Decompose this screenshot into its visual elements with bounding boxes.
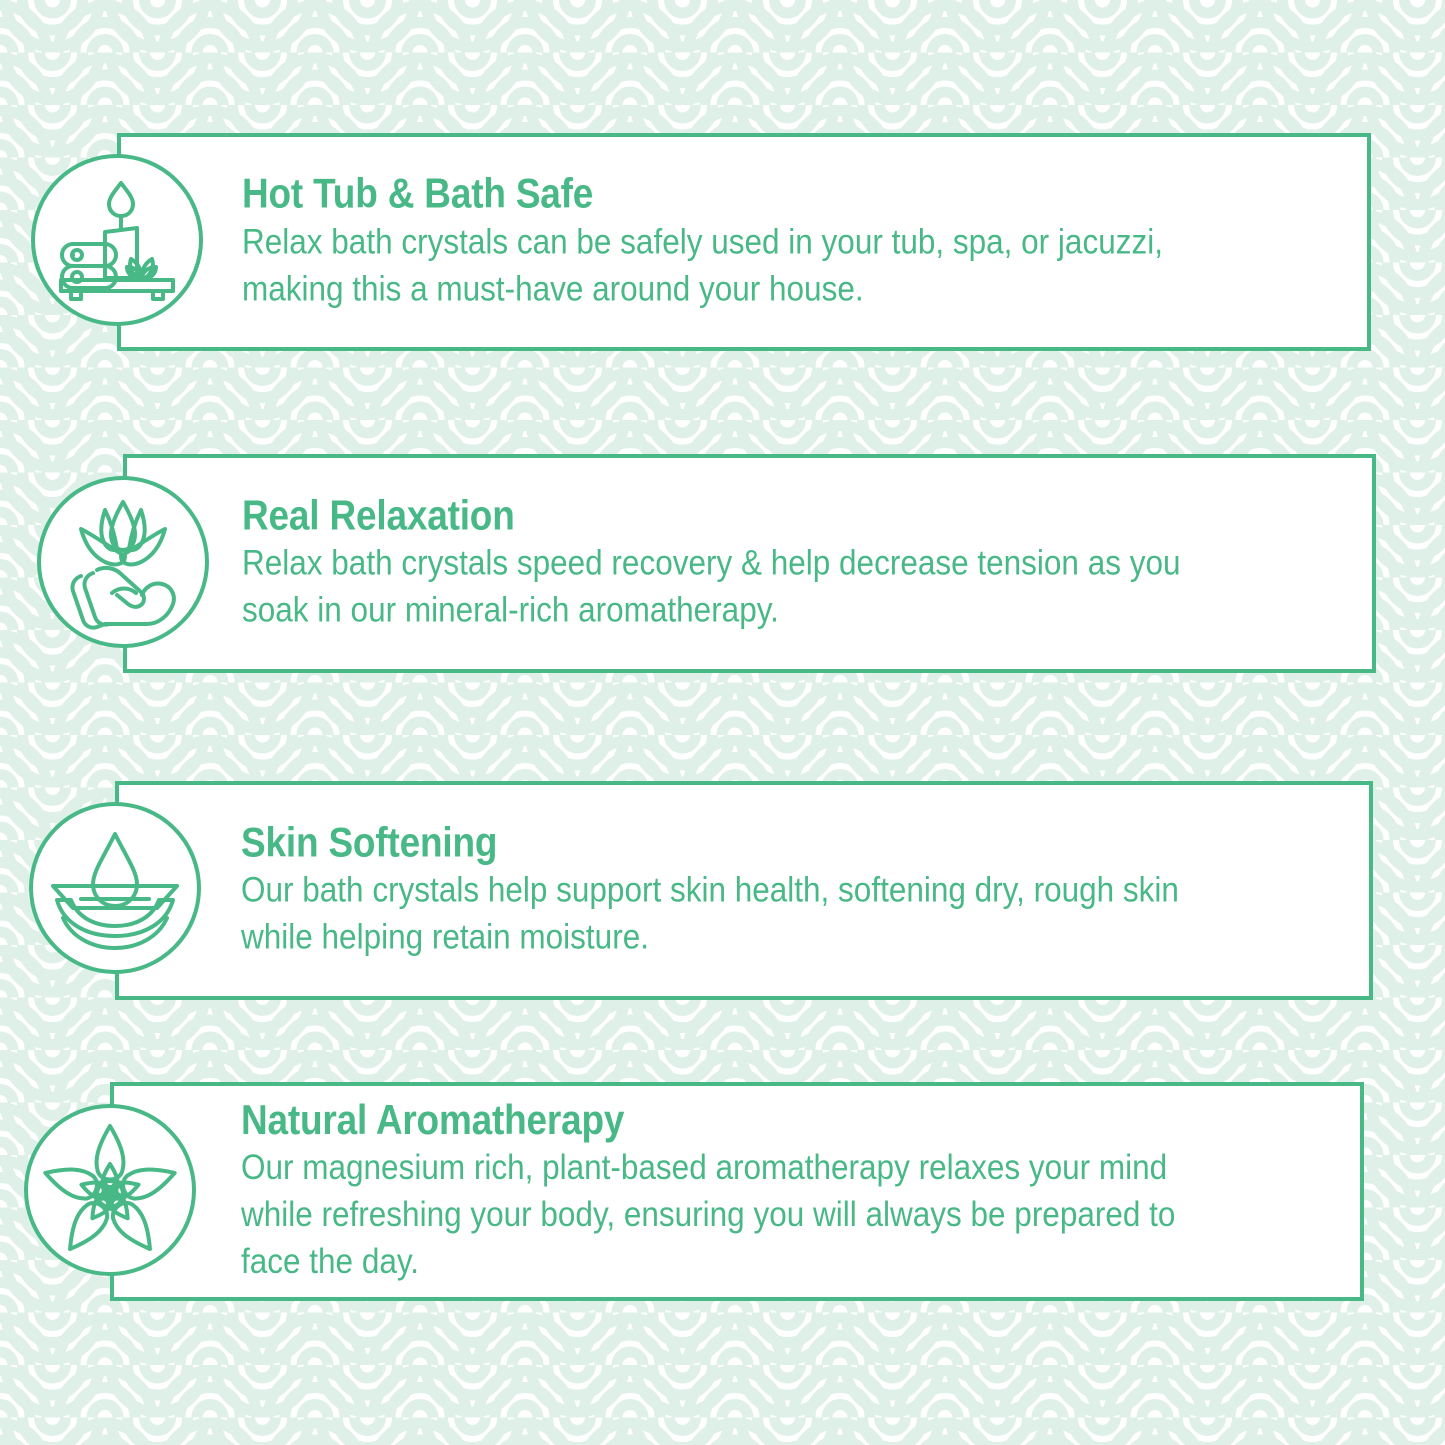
card-title: Hot Tub & Bath Safe bbox=[242, 171, 1216, 215]
card-body: Our magnesium rich, plant-based aromathe… bbox=[241, 1145, 1232, 1286]
feature-panel: Hot Tub & Bath Safe Relax bath crystals … bbox=[0, 0, 1445, 1445]
card-body: Relax bath crystals speed recovery & hel… bbox=[242, 540, 1243, 634]
lotus-in-hand-icon bbox=[35, 474, 211, 650]
feature-card-real-relaxation: Real Relaxation Relax bath crystals spee… bbox=[123, 454, 1376, 673]
card-text-block: Skin Softening Our bath crystals help su… bbox=[241, 820, 1351, 961]
card-title: Real Relaxation bbox=[242, 493, 1221, 537]
feature-card-skin-softening: Skin Softening Our bath crystals help su… bbox=[115, 781, 1373, 1000]
card-text-block: Real Relaxation Relax bath crystals spee… bbox=[242, 493, 1354, 634]
five-petal-flower-icon bbox=[22, 1102, 198, 1278]
water-drop-bowl-icon bbox=[27, 800, 203, 976]
card-body: Our bath crystals help support skin heal… bbox=[241, 867, 1240, 961]
card-body: Relax bath crystals can be safely used i… bbox=[242, 219, 1238, 313]
card-text-block: Hot Tub & Bath Safe Relax bath crystals … bbox=[242, 171, 1349, 312]
card-text-block: Natural Aromatherapy Our magnesium rich,… bbox=[241, 1097, 1342, 1285]
candle-towels-spa-icon bbox=[29, 152, 205, 328]
card-title: Natural Aromatherapy bbox=[241, 1097, 1210, 1141]
feature-card-hot-tub-bath-safe: Hot Tub & Bath Safe Relax bath crystals … bbox=[117, 133, 1371, 351]
card-title: Skin Softening bbox=[241, 820, 1218, 864]
feature-card-natural-aromatherapy: Natural Aromatherapy Our magnesium rich,… bbox=[110, 1082, 1364, 1301]
